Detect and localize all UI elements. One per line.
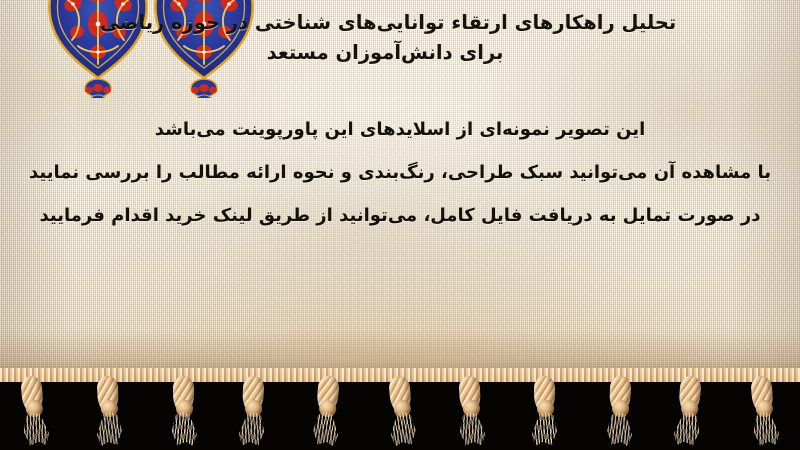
body-line-3: در صورت تمایل به دریافت فایل کامل، می‌تو… <box>0 194 800 237</box>
tassel-brush <box>532 412 558 446</box>
tassel-brush <box>458 411 485 446</box>
tassel <box>528 374 562 448</box>
tassel-brush <box>751 411 780 447</box>
title-line-1: تحلیل راهکارهای ارتقاء توانایی‌های شناخت… <box>0 8 800 38</box>
tassel-brush <box>389 411 418 447</box>
tassel <box>744 373 784 450</box>
slide-canvas: تحلیل راهکارهای ارتقاء توانایی‌های شناخت… <box>0 0 800 450</box>
tassel <box>167 374 201 448</box>
tassel-brush <box>238 411 265 446</box>
tassel <box>452 373 489 448</box>
tassel <box>602 373 639 448</box>
carpet-fringe-band <box>0 368 800 450</box>
tassel-brush <box>96 411 123 446</box>
tassel-brush <box>21 411 50 447</box>
title-line-2: برای دانش‌آموزان مستعد <box>0 38 800 68</box>
slide-body: این تصویر نمونه‌ای از اسلایدهای این پاور… <box>0 108 800 237</box>
slide-title: تحلیل راهکارهای ارتقاء توانایی‌های شناخت… <box>0 8 800 68</box>
tassel <box>91 373 128 448</box>
tassel <box>669 373 709 450</box>
body-line-1: این تصویر نمونه‌ای از اسلایدهای این پاور… <box>0 108 800 151</box>
tassel <box>234 373 271 448</box>
tassel-brush <box>171 412 197 446</box>
tassel-brush <box>673 411 702 447</box>
body-line-2: با مشاهده آن می‌توانید سبک طراحی، رنگ‌بن… <box>0 151 800 194</box>
tassel-brush <box>311 411 340 447</box>
tassel <box>14 373 54 450</box>
tassel <box>307 373 347 450</box>
tassel-brush <box>606 411 633 446</box>
tassel <box>382 373 422 450</box>
